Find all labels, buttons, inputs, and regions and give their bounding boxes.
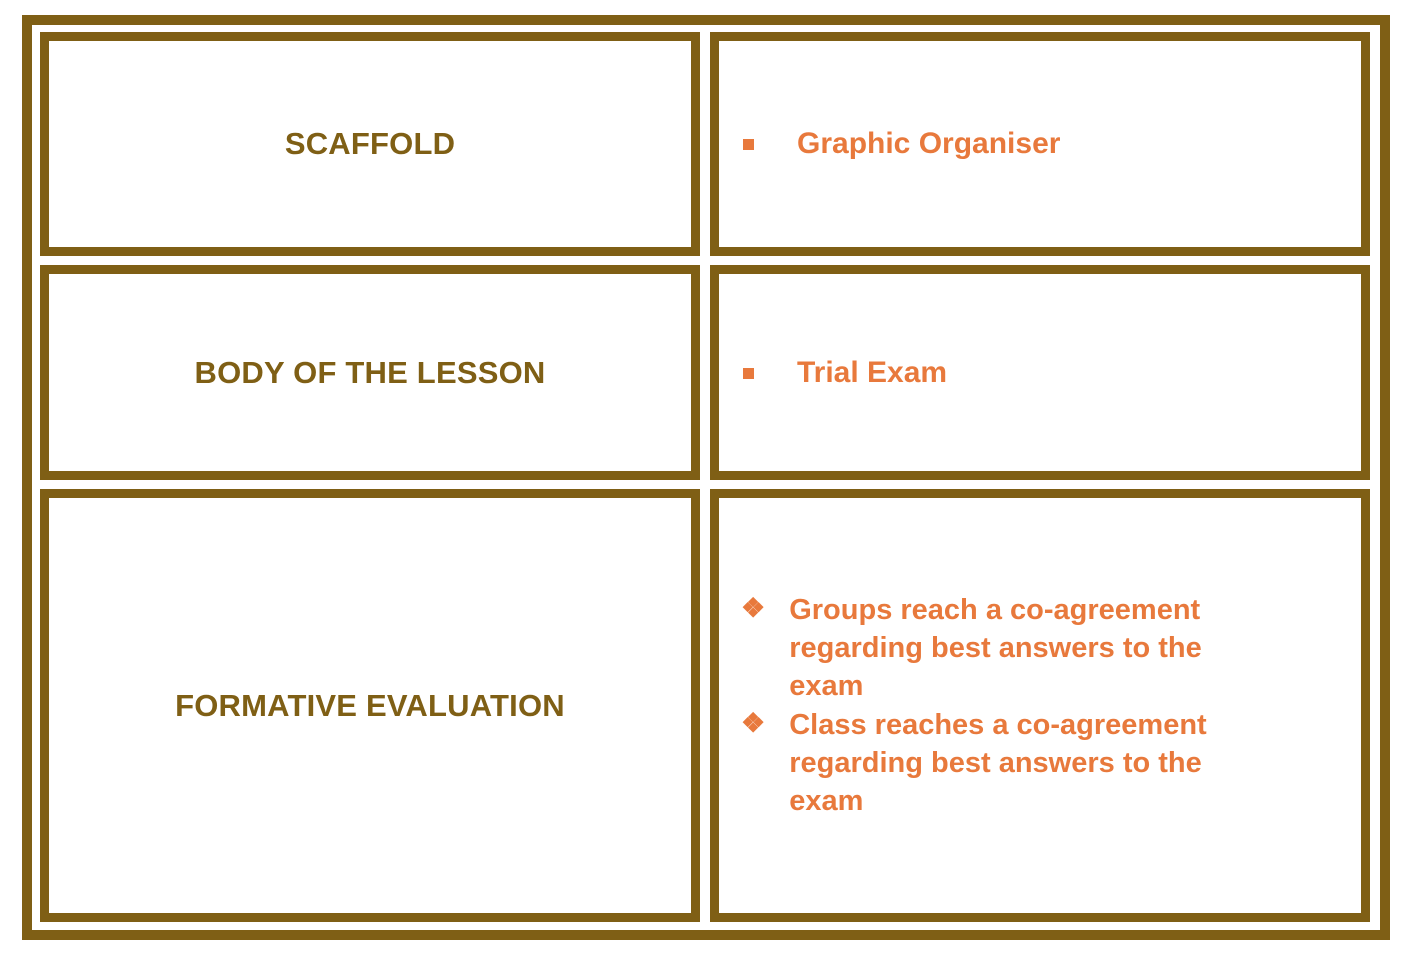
bullet-list-row-3: ❖ Groups reach a co-agreement regarding …: [739, 591, 1349, 821]
row-label-formative-evaluation: FORMATIVE EVALUATION: [175, 688, 565, 724]
list-item-label: Graphic Organiser: [797, 126, 1349, 161]
table-row-2-content-cell: Trial Exam: [710, 265, 1370, 480]
list-item: ❖ Class reaches a co-agreement regarding…: [739, 706, 1349, 821]
list-item: Graphic Organiser: [739, 126, 1349, 161]
row-label-body-of-the-lesson: BODY OF THE LESSON: [195, 355, 546, 391]
bullet-list-row-1: Graphic Organiser: [739, 126, 1349, 161]
table-row-1-label-cell: SCAFFOLD: [40, 32, 700, 256]
list-item: Trial Exam: [739, 355, 1349, 390]
table-row-2-label-cell: BODY OF THE LESSON: [40, 265, 700, 480]
row-label-scaffold: SCAFFOLD: [285, 126, 455, 162]
table-row-3-label-cell: FORMATIVE EVALUATION: [40, 489, 700, 922]
table-row-1-content-cell: Graphic Organiser: [710, 32, 1370, 256]
square-bullet-icon: [743, 139, 754, 150]
table-row-3-content-cell: ❖ Groups reach a co-agreement regarding …: [710, 489, 1370, 922]
square-bullet-icon: [743, 368, 754, 379]
list-item-label: Class reaches a co-agreement regarding b…: [789, 706, 1209, 821]
diamond-cluster-bullet-icon: ❖: [741, 591, 765, 627]
list-item: ❖ Groups reach a co-agreement regarding …: [739, 591, 1349, 706]
bullet-list-row-2: Trial Exam: [739, 355, 1349, 390]
diamond-cluster-bullet-icon: ❖: [741, 706, 765, 742]
lesson-plan-table: SCAFFOLD Graphic Organiser BODY OF THE L…: [40, 32, 1370, 922]
list-item-label: Groups reach a co-agreement regarding be…: [789, 591, 1209, 706]
list-item-label: Trial Exam: [797, 355, 1349, 390]
